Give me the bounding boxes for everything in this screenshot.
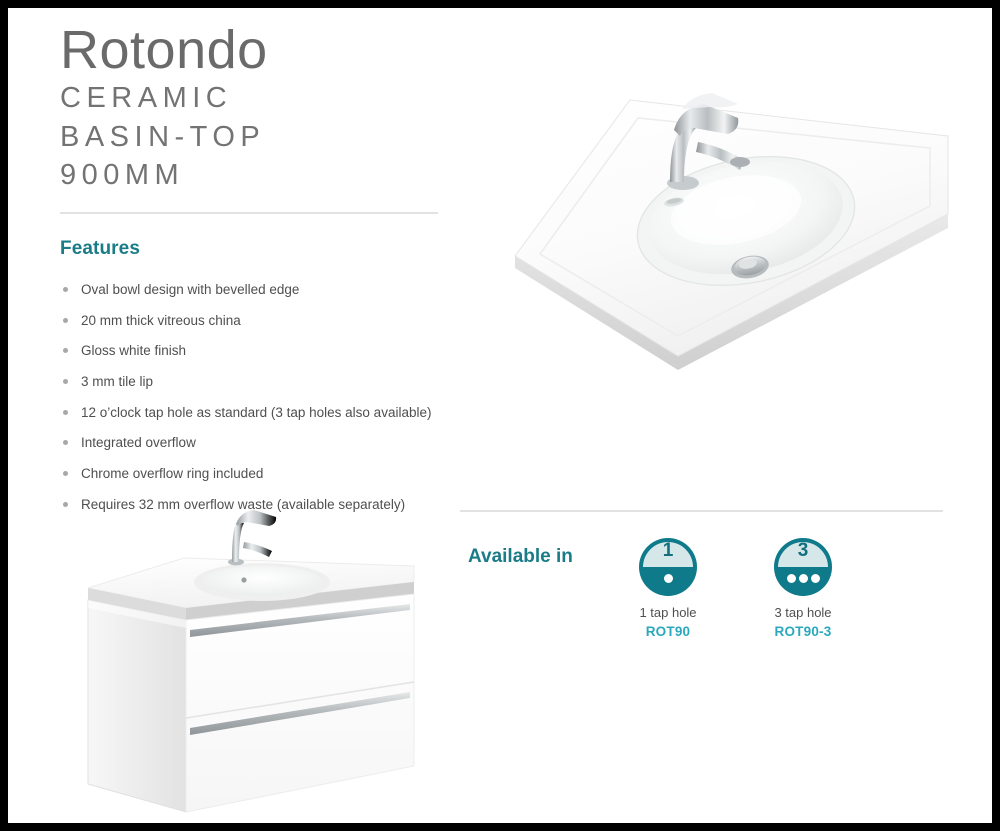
tap-hole-badge-1-icon: 1 xyxy=(639,538,697,596)
product-spec-page: Rotondo CERAMIC BASIN-TOP 900MM Features… xyxy=(8,8,992,823)
list-item: Integrated overflow xyxy=(60,433,460,452)
feature-text: Oval bowl design with bevelled edge xyxy=(81,282,299,297)
features-heading: Features xyxy=(60,238,460,260)
feature-text: Chrome overflow ring included xyxy=(81,466,263,481)
variant-caption: 3 tap hole xyxy=(743,605,863,620)
bullet-icon xyxy=(63,410,68,415)
feature-text: 3 mm tile lip xyxy=(81,374,153,389)
feature-text: Integrated overflow xyxy=(81,435,196,450)
subtitle-line-3: 900MM xyxy=(60,156,460,195)
title-divider xyxy=(60,212,438,214)
page-title: Rotondo xyxy=(60,22,460,79)
variant-caption: 1 tap hole xyxy=(608,605,728,620)
feature-text: Gloss white finish xyxy=(81,343,186,358)
feature-text: 12 o’clock tap hole as standard (3 tap h… xyxy=(81,405,431,420)
hole-dot-icon xyxy=(811,574,820,583)
subtitle-line-1: CERAMIC xyxy=(60,79,460,118)
available-in-section: Available in 1 1 tap hole ROT90 xyxy=(460,538,950,658)
bullet-icon xyxy=(63,379,68,384)
badge-number: 1 xyxy=(639,539,697,563)
available-divider xyxy=(460,510,943,512)
features-section: Features Oval bowl design with bevelled … xyxy=(60,238,460,525)
basin-top-product-image xyxy=(478,78,968,408)
list-item: Chrome overflow ring included xyxy=(60,464,460,483)
bullet-icon xyxy=(63,440,68,445)
badge-hole-dots xyxy=(774,568,832,588)
list-item: Oval bowl design with bevelled edge xyxy=(60,280,460,299)
title-block: Rotondo CERAMIC BASIN-TOP 900MM xyxy=(60,22,460,195)
feature-list: Oval bowl design with bevelled edge 20 m… xyxy=(60,280,460,514)
hole-dot-icon xyxy=(664,574,673,583)
list-item: Gloss white finish xyxy=(60,341,460,360)
hole-dot-icon xyxy=(799,574,808,583)
available-in-heading: Available in xyxy=(468,546,573,568)
bullet-icon xyxy=(63,348,68,353)
vanity-unit-product-image xyxy=(66,496,456,816)
variant-option-1-tap-hole[interactable]: 1 1 tap hole ROT90 xyxy=(608,538,728,639)
bullet-icon xyxy=(63,318,68,323)
feature-text: 20 mm thick vitreous china xyxy=(81,313,241,328)
variant-sku[interactable]: ROT90 xyxy=(608,624,728,639)
variant-option-3-tap-hole[interactable]: 3 3 tap hole ROT90-3 xyxy=(743,538,863,639)
list-item: 20 mm thick vitreous china xyxy=(60,311,460,330)
tap-hole-badge-3-icon: 3 xyxy=(774,538,832,596)
hole-dot-icon xyxy=(787,574,796,583)
bullet-icon xyxy=(63,471,68,476)
list-item: 12 o’clock tap hole as standard (3 tap h… xyxy=(60,403,460,422)
list-item: 3 mm tile lip xyxy=(60,372,460,391)
badge-number: 3 xyxy=(774,539,832,563)
subtitle-line-2: BASIN-TOP xyxy=(60,118,460,157)
bullet-icon xyxy=(63,287,68,292)
badge-hole-dots xyxy=(639,568,697,588)
variant-sku[interactable]: ROT90-3 xyxy=(743,624,863,639)
